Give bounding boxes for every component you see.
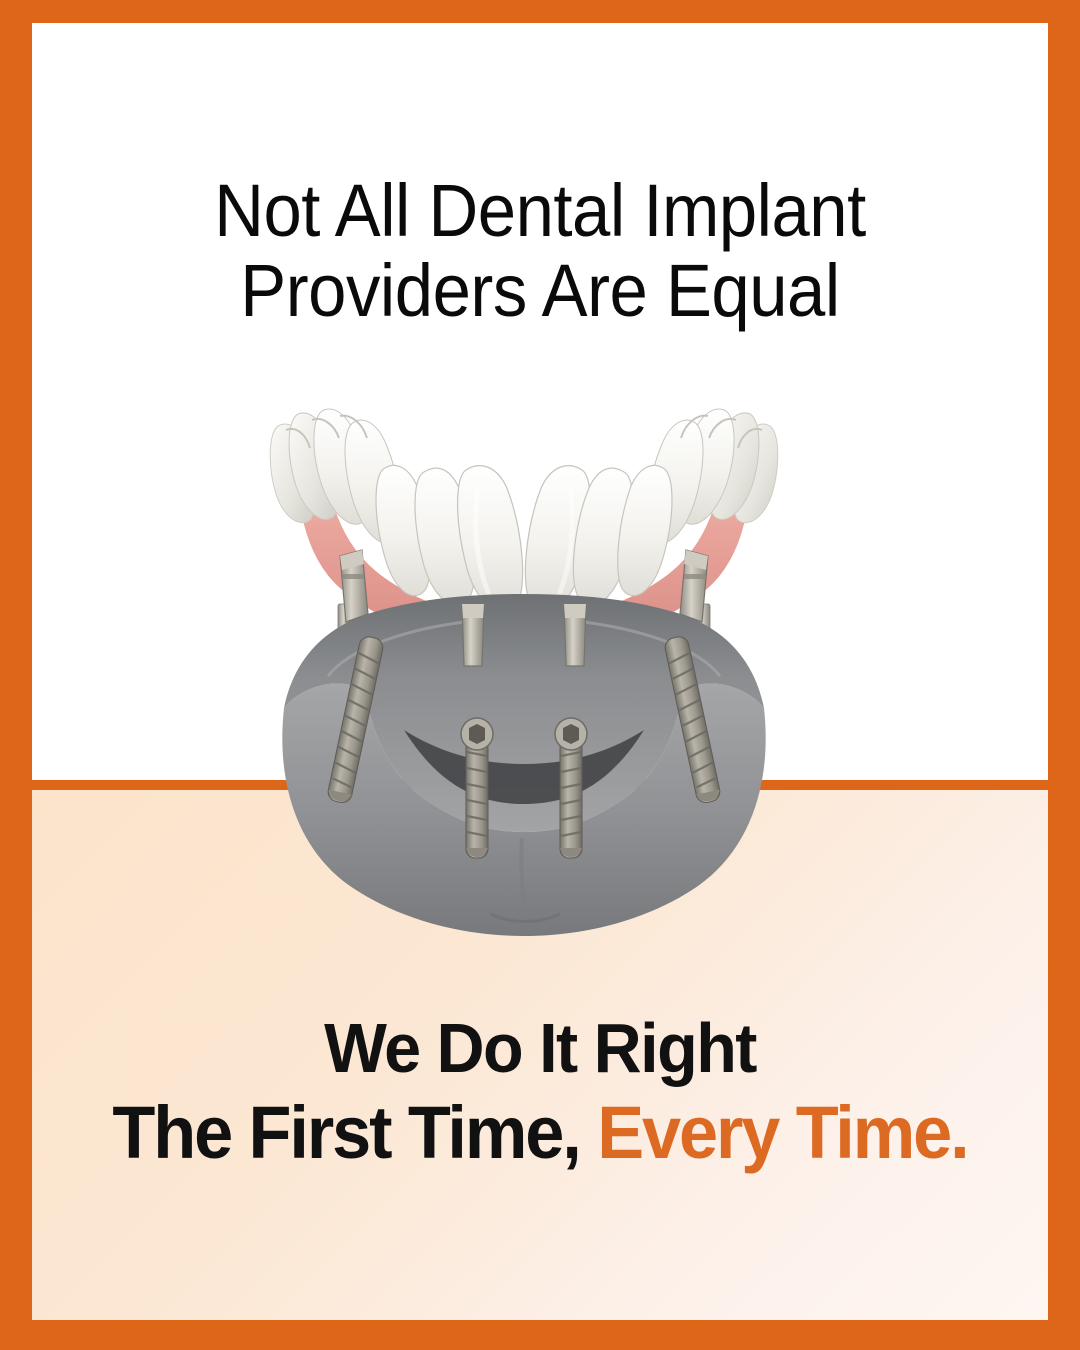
implant-screw-right-anterior bbox=[555, 718, 587, 858]
tagline-block: We Do It Right The First Time, Every Tim… bbox=[32, 1008, 1048, 1176]
dental-implant-svg bbox=[254, 408, 794, 968]
tagline-line-2: The First Time, Every Time. bbox=[57, 1090, 1022, 1177]
tagline-accent: Every Time. bbox=[597, 1091, 967, 1174]
jaw-model bbox=[282, 550, 765, 936]
abutment-left-anterior bbox=[462, 604, 484, 666]
page-title-line-1: Not All Dental Implant bbox=[68, 171, 1013, 251]
page-title: Not All Dental Implant Providers Are Equ… bbox=[68, 171, 1013, 331]
dental-implant-illustration bbox=[254, 408, 794, 968]
page-title-line-2: Providers Are Equal bbox=[68, 251, 1013, 331]
poster-canvas: Not All Dental Implant Providers Are Equ… bbox=[0, 0, 1080, 1350]
teeth-anterior bbox=[376, 465, 672, 612]
tagline-line-2-plain: The First Time, bbox=[112, 1091, 597, 1174]
tagline-line-1: We Do It Right bbox=[57, 1008, 1022, 1090]
poster-inner-frame: Not All Dental Implant Providers Are Equ… bbox=[32, 23, 1048, 1320]
abutment-right-anterior bbox=[564, 604, 586, 666]
implant-screw-left-anterior bbox=[461, 718, 493, 858]
